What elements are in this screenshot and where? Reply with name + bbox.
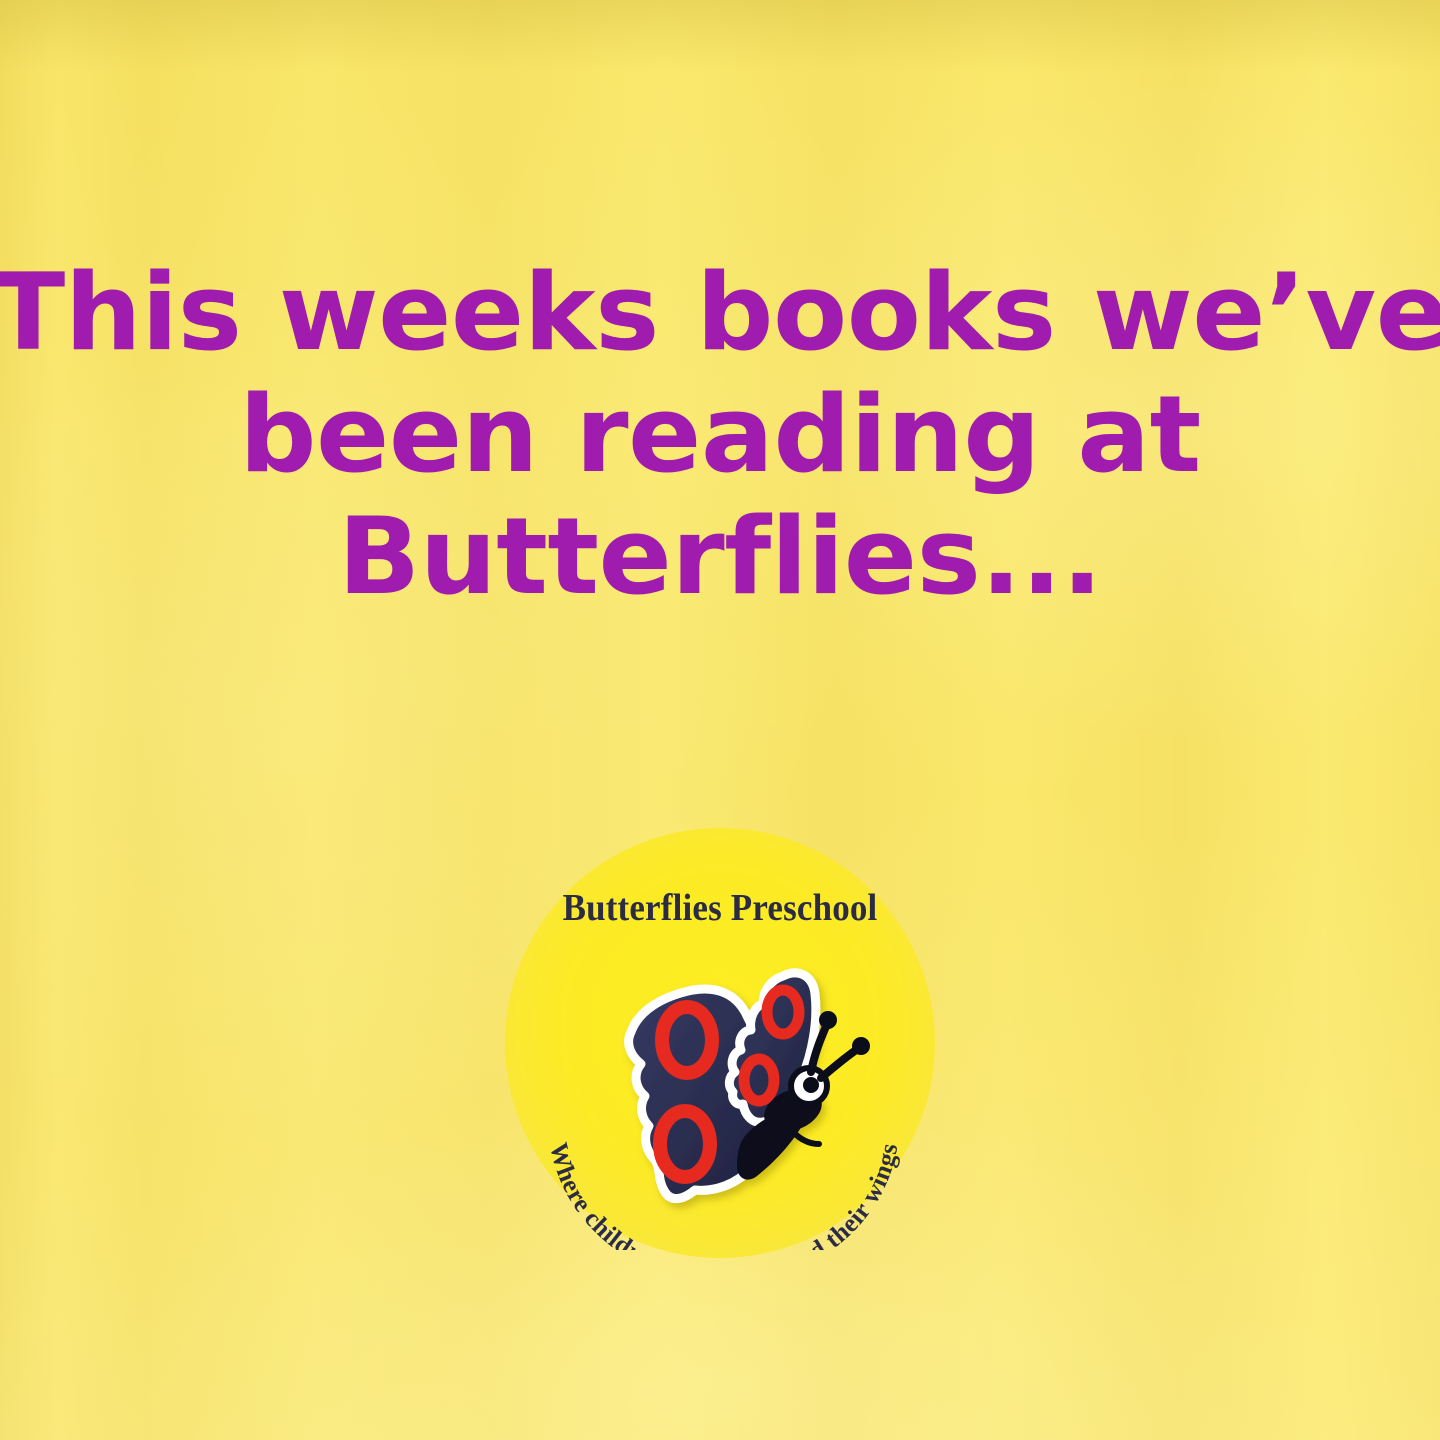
logo-tagline-text: Where children learn to spread their win… (544, 1140, 903, 1250)
social-post-canvas: This weeks books we’ve been reading at B… (0, 0, 1440, 1440)
svg-text:Where children learn to spread: Where children learn to spread their win… (544, 1140, 903, 1250)
logo-tagline: Where children learn to spread their win… (527, 1040, 917, 1250)
headline-line-2: been reading at (0, 374, 1440, 496)
logo-title: Butterflies Preschool (522, 886, 918, 930)
headline-line-3: Butterflies... (0, 496, 1440, 618)
preschool-logo: Butterflies Preschool (505, 828, 935, 1258)
headline-line-1: This weeks books we’ve (0, 252, 1440, 374)
headline-text: This weeks books we’ve been reading at B… (0, 252, 1440, 618)
